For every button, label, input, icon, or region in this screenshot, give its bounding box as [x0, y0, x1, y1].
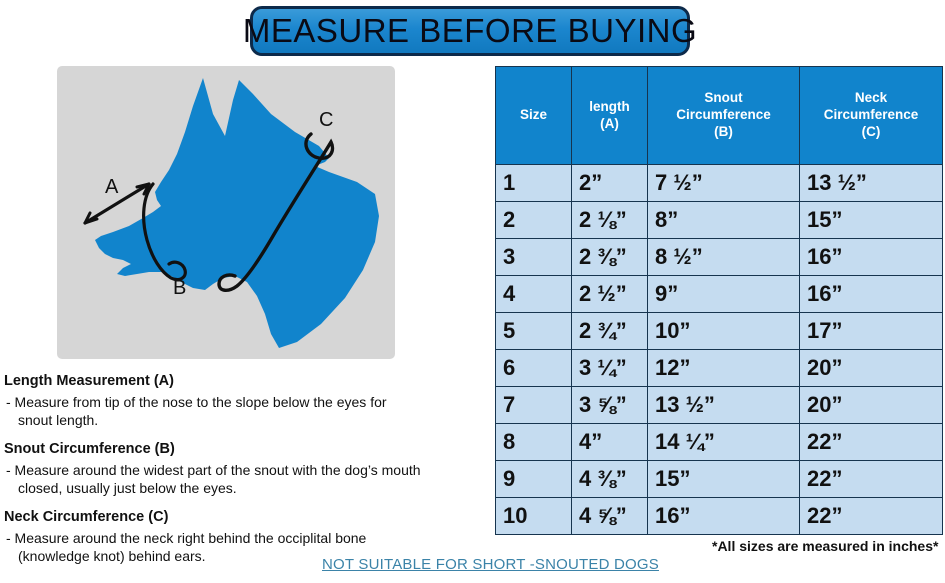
- header-line-3: (B): [714, 124, 733, 139]
- instruction-length: Length Measurement (A) - Measure from ti…: [4, 372, 490, 430]
- label-c-text: C: [319, 109, 333, 131]
- cell-size: 8: [496, 424, 572, 461]
- cell-neck: 13 ½”: [800, 165, 943, 202]
- table-row: 104 ⅝”16”22”: [496, 498, 943, 535]
- instructions-list: Length Measurement (A) - Measure from ti…: [4, 372, 490, 576]
- cell-size: 9: [496, 461, 572, 498]
- instruction-body: - Measure around the widest part of the …: [4, 461, 490, 499]
- cell-neck: 20”: [800, 387, 943, 424]
- cell-neck: 20”: [800, 350, 943, 387]
- instruction-line-1: - Measure from tip of the nose to the sl…: [6, 394, 387, 410]
- cell-snout: 8”: [648, 202, 800, 239]
- column-header-snout-circumference: Snout Circumference (B): [648, 67, 800, 165]
- instruction-heading: Length Measurement (A): [4, 372, 490, 392]
- header-line-2: (A): [600, 116, 619, 131]
- title-banner: MEASURE BEFORE BUYING: [250, 6, 690, 56]
- short-snout-warning: NOT SUITABLE FOR SHORT -SNOUTED DOGS: [322, 556, 659, 573]
- table-row: 32 ⅜”8 ½”16”: [496, 239, 943, 276]
- column-header-neck-circumference: Neck Circumference (C): [800, 67, 943, 165]
- cell-neck: 15”: [800, 202, 943, 239]
- cell-snout: 14 ¼”: [648, 424, 800, 461]
- label-b-text: B: [173, 277, 186, 299]
- instruction-heading: Snout Circumference (B): [4, 440, 490, 460]
- instruction-line-2: snout length.: [6, 411, 490, 430]
- cell-snout: 16”: [648, 498, 800, 535]
- header-line-1: Size: [520, 107, 547, 122]
- cell-size: 10: [496, 498, 572, 535]
- instruction-line-1: - Measure around the neck right behind t…: [6, 530, 366, 546]
- table-row: 63 ¼”12”20”: [496, 350, 943, 387]
- dog-silhouette: [95, 78, 379, 348]
- size-chart-body: 12”7 ½”13 ½”22 ⅛”8”15”32 ⅜”8 ½”16”42 ½”9…: [496, 165, 943, 535]
- cell-length: 2 ¾”: [572, 313, 648, 350]
- page-title: MEASURE BEFORE BUYING: [243, 12, 697, 50]
- cell-size: 3: [496, 239, 572, 276]
- units-note: *All sizes are measured in inches*: [712, 538, 938, 554]
- cell-snout: 8 ½”: [648, 239, 800, 276]
- cell-snout: 7 ½”: [648, 165, 800, 202]
- header-line-2: Circumference: [676, 107, 771, 122]
- cell-length: 3 ¼”: [572, 350, 648, 387]
- header-line-2: Circumference: [824, 107, 919, 122]
- cell-neck: 16”: [800, 239, 943, 276]
- cell-neck: 22”: [800, 498, 943, 535]
- cell-size: 5: [496, 313, 572, 350]
- table-row: 22 ⅛”8”15”: [496, 202, 943, 239]
- dog-head-diagram: A B C: [57, 66, 395, 359]
- table-row: 52 ¾”10”17”: [496, 313, 943, 350]
- cell-length: 2 ⅛”: [572, 202, 648, 239]
- header-line-1: Neck: [855, 90, 887, 105]
- column-header-length: length (A): [572, 67, 648, 165]
- cell-length: 2 ½”: [572, 276, 648, 313]
- cell-length: 3 ⅝”: [572, 387, 648, 424]
- instruction-line-1: - Measure around the widest part of the …: [6, 462, 421, 478]
- size-chart-table: Size length (A) Snout Circumference (B) …: [495, 66, 943, 535]
- table-header-row: Size length (A) Snout Circumference (B) …: [496, 67, 943, 165]
- instruction-body: - Measure from tip of the nose to the sl…: [4, 393, 490, 431]
- cell-neck: 17”: [800, 313, 943, 350]
- table-row: 84”14 ¼”22”: [496, 424, 943, 461]
- cell-size: 4: [496, 276, 572, 313]
- cell-size: 6: [496, 350, 572, 387]
- label-a-text: A: [105, 176, 119, 198]
- cell-length: 2 ⅜”: [572, 239, 648, 276]
- table-row: 73 ⅝”13 ½”20”: [496, 387, 943, 424]
- cell-neck: 22”: [800, 424, 943, 461]
- cell-snout: 13 ½”: [648, 387, 800, 424]
- instruction-line-2: closed, usually just below the eyes.: [6, 479, 490, 498]
- cell-neck: 16”: [800, 276, 943, 313]
- cell-length: 4 ⅜”: [572, 461, 648, 498]
- header-line-3: (C): [862, 124, 881, 139]
- table-row: 42 ½”9”16”: [496, 276, 943, 313]
- table-row: 12”7 ½”13 ½”: [496, 165, 943, 202]
- cell-length: 4”: [572, 424, 648, 461]
- cell-neck: 22”: [800, 461, 943, 498]
- cell-length: 2”: [572, 165, 648, 202]
- cell-snout: 15”: [648, 461, 800, 498]
- cell-length: 4 ⅝”: [572, 498, 648, 535]
- instruction-snout: Snout Circumference (B) - Measure around…: [4, 440, 490, 498]
- cell-size: 2: [496, 202, 572, 239]
- cell-snout: 9”: [648, 276, 800, 313]
- cell-size: 1: [496, 165, 572, 202]
- cell-snout: 12”: [648, 350, 800, 387]
- instruction-heading: Neck Circumference (C): [4, 508, 490, 528]
- header-line-1: Snout: [704, 90, 742, 105]
- header-line-1: length: [589, 99, 630, 114]
- cell-size: 7: [496, 387, 572, 424]
- table-row: 94 ⅜”15”22”: [496, 461, 943, 498]
- cell-snout: 10”: [648, 313, 800, 350]
- column-header-size: Size: [496, 67, 572, 165]
